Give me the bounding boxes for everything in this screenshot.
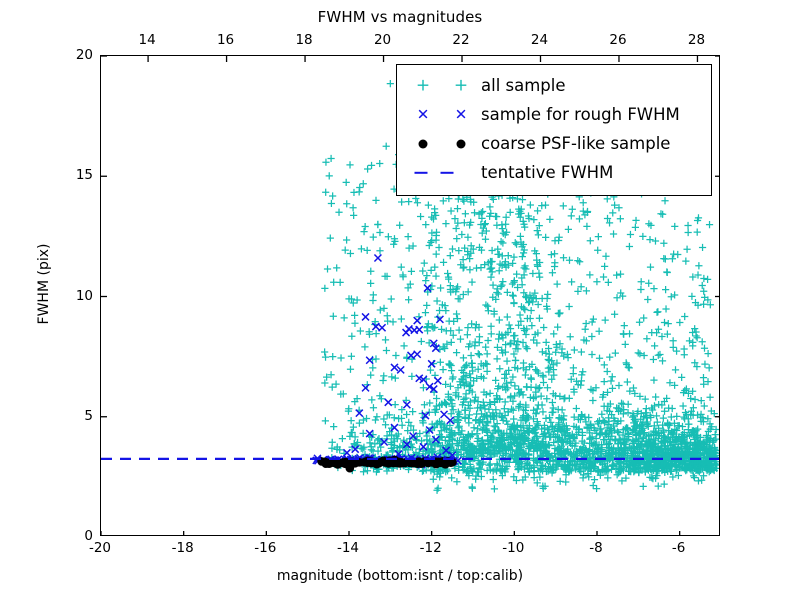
dashed-line-icon [407,161,479,185]
legend-box: + + all sample ✕ ✕ sample for rough FWHM… [396,64,712,196]
legend-item-rough-fwhm: ✕ ✕ sample for rough FWHM [407,100,701,129]
y-tick-label: 5 [84,408,93,424]
x-tick-label-top: 22 [452,32,469,48]
legend-label-tentative-fwhm: tentative FWHM [479,163,613,182]
x-tick-label-top: 18 [295,32,312,48]
cross-icon: ✕ ✕ [407,103,479,127]
x-tick-label-top: 24 [531,32,548,48]
legend-label-psf-like: coarse PSF-like sample [479,134,670,153]
legend-label-all-sample: all sample [479,76,566,95]
x-tick-label-bottom: -8 [589,540,602,556]
plus-icon: + + [407,74,479,98]
x-axis-label: magnitude (bottom:isnt / top:calib) [0,568,800,584]
legend-item-tentative-fwhm: tentative FWHM [407,158,701,187]
dot-icon [407,132,479,156]
x-tick-label-bottom: -12 [420,540,442,556]
x-tick-label-bottom: -18 [172,540,194,556]
x-tick-label-bottom: -10 [502,540,524,556]
legend-label-rough-fwhm: sample for rough FWHM [479,105,680,124]
legend-item-psf-like: coarse PSF-like sample [407,129,701,158]
y-tick-label-layer: 05101520 [0,0,93,600]
y-tick-label: 20 [76,47,93,63]
page-title: FWHM vs magnitudes [0,8,800,26]
x-tick-label-top: 26 [609,32,626,48]
x-tick-label-bottom: -20 [89,540,111,556]
x-tick-label-top: 20 [374,32,391,48]
x-tick-label-top: 16 [217,32,234,48]
x-tick-label-bottom: -14 [337,540,359,556]
legend-item-all-sample: + + all sample [407,71,701,100]
x-tick-label-top: 28 [688,32,705,48]
x-tick-label-bottom: -16 [254,540,276,556]
x-tick-label-bottom: -6 [672,540,685,556]
figure-canvas: FWHM vs magnitudes FWHM (pix) magnitude … [0,0,800,600]
x-tick-label-top: 14 [138,32,155,48]
y-tick-label: 10 [76,288,93,304]
y-tick-label: 15 [76,167,93,183]
